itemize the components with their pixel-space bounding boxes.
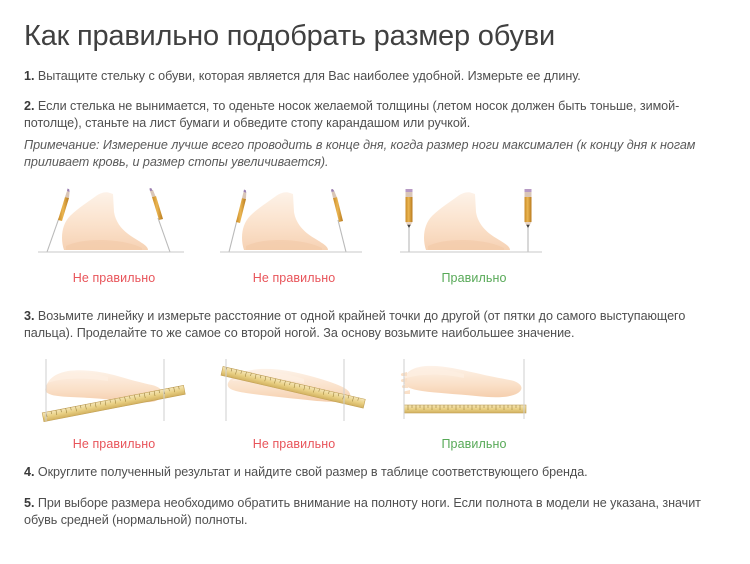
step-1-text: Вытащите стельку с обуви, которая являет… bbox=[34, 69, 580, 83]
step-3-text: Возьмите линейку и измерьте расстояние о… bbox=[24, 309, 685, 340]
foot-top-angled-ruler-icon bbox=[24, 353, 204, 428]
step-2-text: Если стелька не вынимается, то оденьте н… bbox=[24, 99, 679, 130]
foot-side-tilted-pencils-outward-icon bbox=[204, 180, 384, 260]
step-4-paragraph: 4. Округлите полученный результат и найд… bbox=[24, 464, 730, 481]
figure-ruler-2-caption: Не правильно bbox=[204, 437, 384, 451]
foot-side-tilted-pencils-inward-icon bbox=[24, 180, 204, 260]
foot-side-vertical-pencils-icon bbox=[384, 180, 564, 260]
step-5-paragraph: 5. При выборе размера необходимо обратит… bbox=[24, 495, 730, 528]
step-3-number: 3. bbox=[24, 309, 34, 323]
page-title: Как правильно подобрать размер обуви bbox=[24, 0, 726, 54]
foot-top-diagonal-ruler-icon bbox=[204, 353, 384, 428]
step-3-paragraph: 3. Возьмите линейку и измерьте расстояни… bbox=[24, 308, 730, 341]
figure-ruler-1: Не правильно bbox=[24, 353, 204, 453]
step-2-number: 2. bbox=[24, 99, 34, 113]
figure-ruler-2: Не правильно bbox=[204, 353, 384, 453]
figure-ruler-1-caption: Не правильно bbox=[24, 437, 204, 451]
pencil-figure-row: Не правильно Не пр bbox=[24, 180, 564, 285]
step-5-number: 5. bbox=[24, 496, 34, 510]
step-4-number: 4. bbox=[24, 465, 34, 479]
figure-pencil-2: Не правильно bbox=[204, 180, 384, 285]
step-1-paragraph: 1. Вытащите стельку с обуви, которая явл… bbox=[24, 68, 730, 85]
figure-pencil-1: Не правильно bbox=[24, 180, 204, 285]
note-paragraph: Примечание: Измерение лучше всего провод… bbox=[24, 137, 730, 170]
foot-top-horizontal-ruler-icon bbox=[384, 353, 564, 428]
step-2-paragraph: 2. Если стелька не вынимается, то оденьт… bbox=[24, 98, 730, 131]
figure-pencil-3-caption: Правильно bbox=[384, 271, 564, 285]
shoe-size-guide-page: Как правильно подобрать размер обуви 1. … bbox=[0, 0, 750, 564]
figure-pencil-1-caption: Не правильно bbox=[24, 271, 204, 285]
figure-ruler-3-caption: Правильно bbox=[384, 437, 564, 451]
figure-pencil-3: Правильно bbox=[384, 180, 564, 285]
ruler-figure-row: Не правильно bbox=[24, 353, 564, 453]
figure-ruler-3: Правильно bbox=[384, 353, 564, 453]
step-4-text: Округлите полученный результат и найдите… bbox=[34, 465, 587, 479]
figure-pencil-2-caption: Не правильно bbox=[204, 271, 384, 285]
step-5-text: При выборе размера необходимо обратить в… bbox=[24, 496, 701, 527]
step-1-number: 1. bbox=[24, 69, 34, 83]
